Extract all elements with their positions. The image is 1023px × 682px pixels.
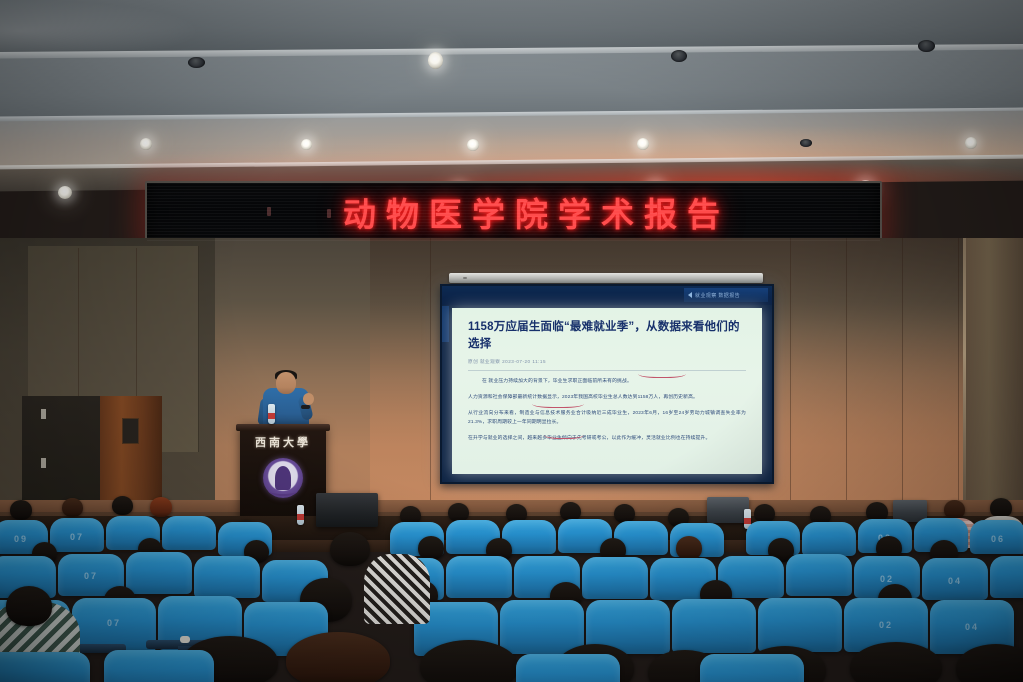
ceiling-spotlight-icon [467,139,479,151]
ceiling-spotlight-icon [918,40,935,52]
slide-paragraph: 在 就业压力持续加大的背景下，毕业生求职正面临前所未有的挑战。 [468,378,746,387]
audience-seating: 09 07 02 06 07 [0,494,1023,682]
auditorium-chair[interactable] [0,652,90,682]
auditorium-chair[interactable] [104,650,214,682]
slide-byline: 原创 就业观察 2023-07-20 11:15 [468,359,746,365]
wall-right-return [966,238,1023,528]
lectern-top [236,424,330,431]
wall-panel-seam [902,238,903,510]
projector-screen-housing [449,273,763,283]
audience-head-foreground [850,642,942,682]
auditorium-chair[interactable] [700,654,804,682]
slide-divider [468,370,746,371]
slide-handwritten-underline [532,404,584,408]
auditorium-chair[interactable] [758,598,842,652]
audience-torso [364,554,430,624]
audience-head [944,500,965,519]
slide-paragraph: 从行业流向分布来看，制造业与信息技术服务业合计吸纳近三成毕业生，2023年6月，… [468,410,746,428]
led-banner: 动物医学院学术报告 [145,181,882,243]
audience-head [676,536,702,560]
wall-panel-seam [136,248,137,398]
audience-head-foreground [286,632,390,682]
door-hinge [41,409,46,419]
drink-cup [180,636,190,643]
door-window-pane [122,418,139,444]
auditorium-chair[interactable]: 06 [970,520,1023,554]
seat-number: 07 [50,532,104,542]
slide-paragraph: 在升学与就业的选择之间，越来越多毕业生倾向于先考研或考公，以此作为缓冲，灵活就业… [468,435,746,444]
audience-head [330,532,370,566]
lecture-hall-photo: 动物医学院学术报告 就业观察 数据报告 1158万应届生面临“最难就业季”，从数… [0,0,1023,682]
seat-number: 06 [970,534,1023,544]
screen-titlebar-right: 就业观察 数据报告 [684,288,768,302]
housing-endcap [463,277,467,279]
audience-head [418,536,444,560]
screen-left-tab [442,306,449,342]
auditorium-chair[interactable] [194,556,260,598]
speaker-head [276,372,296,394]
ceiling-spotlight-icon [301,139,312,150]
ceiling-spotlight-icon [800,139,812,147]
audience-head [112,496,133,515]
audience-head [10,500,32,520]
seat-number: 07 [58,571,124,581]
auditorium-chair[interactable] [126,552,192,594]
audience-head [990,498,1012,518]
screen-titlebar-label: 就业观察 数据报告 [695,292,740,299]
auditorium-chair[interactable] [582,557,648,599]
led-banner-text: 动物医学院学术报告 [333,188,730,236]
wall-panel-seam [78,248,79,398]
slide-content: 1158万应届生面临“最难就业季”，从数据来看他们的选择 原创 就业观察 202… [452,308,762,474]
ceiling-spotlight-icon [188,57,205,68]
ceiling-spotlight-icon [428,52,443,69]
wall-panel-seam [790,238,791,510]
auditorium-chair[interactable] [802,522,856,556]
ceiling-spotlight-icon [637,138,649,150]
ceiling-spotlight-icon [58,186,72,199]
door-hinge [41,458,46,468]
chevron-left-icon [688,292,692,298]
audience-head [62,498,83,517]
ceiling-spotlight-icon [671,50,687,62]
auditorium-chair[interactable]: 07 [50,518,104,552]
wristwatch-icon [301,405,310,409]
seat-number: 02 [854,574,920,584]
audience-head [6,586,52,626]
auditorium-chair[interactable] [500,600,584,654]
water-bottle [268,404,275,424]
southwest-university-emblem-icon [263,458,303,498]
auditorium-chair[interactable] [446,556,512,598]
auditorium-chair[interactable] [786,554,852,596]
wall-panel-seam [430,238,431,510]
auditorium-chair[interactable] [990,556,1023,598]
seat-number: 02 [844,620,928,630]
seat-number: 04 [930,622,1014,632]
audience-head [150,497,172,517]
speaker-hand [303,393,314,405]
auditorium-chair[interactable]: 04 [922,558,988,600]
seat-number: 07 [72,618,156,628]
seat-number: 04 [922,576,988,586]
auditorium-chair[interactable] [162,516,216,550]
lectern-university-name: 西南大學 [240,434,326,450]
projection-screen: 就业观察 数据报告 1158万应届生面临“最难就业季”，从数据来看他们的选择 原… [440,284,774,484]
wall-panel-seam [958,238,959,510]
slide-title: 1158万应届生面临“最难就业季”，从数据来看他们的选择 [468,319,746,352]
auditorium-chair[interactable] [672,599,756,653]
ceiling-spotlight-icon [140,138,152,150]
auditorium-chair[interactable] [516,654,620,682]
screen-titlebar: 就业观察 数据报告 [442,286,772,305]
slide-paragraph: 人力资源和社会保障部最新统计数据显示，2023年我国高校毕业生总人数达到1158… [468,394,746,403]
wall-panel-seam [846,238,847,510]
ceiling-spotlight-icon [965,137,977,149]
